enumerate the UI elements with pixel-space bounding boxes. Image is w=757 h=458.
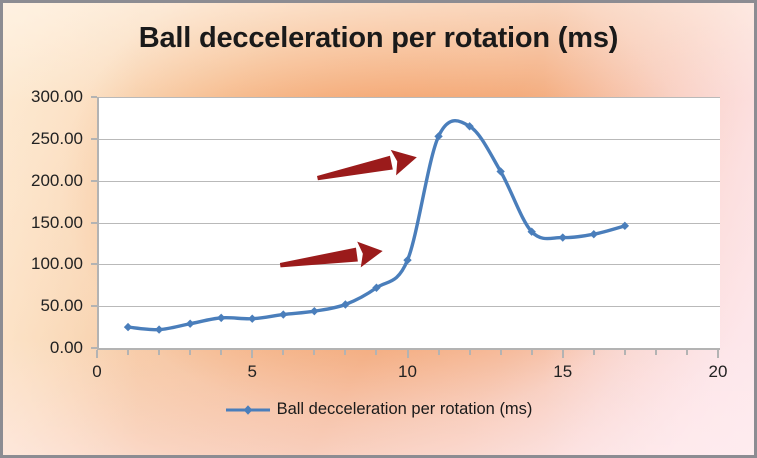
series-data-point: [155, 325, 163, 333]
y-axis-tick-label: 250.00: [5, 129, 83, 149]
series-data-point: [559, 233, 567, 241]
series-data-point: [279, 310, 287, 318]
x-axis-minor-tick-mark: [686, 350, 688, 355]
x-axis-minor-tick-mark: [655, 350, 657, 355]
x-axis-minor-tick-mark: [438, 350, 440, 355]
series-data-point: [186, 320, 194, 328]
y-axis-tick-label: 150.00: [5, 213, 83, 233]
series-data-point: [621, 222, 629, 230]
chart-title: Ball decceleration per rotation (ms): [0, 22, 757, 55]
x-axis-minor-tick-mark: [500, 350, 502, 355]
x-axis-tick-label: 5: [248, 362, 257, 382]
legend-label: Ball decceleration per rotation (ms): [277, 400, 533, 419]
x-axis-tick-label: 20: [709, 362, 728, 382]
x-axis-minor-tick-mark: [624, 350, 626, 355]
x-axis-minor-tick-mark: [375, 350, 377, 355]
x-axis-major-tick-mark: [562, 350, 564, 358]
chart-legend: Ball decceleration per rotation (ms): [0, 400, 757, 422]
series-data-point: [310, 307, 318, 315]
x-axis-minor-tick-mark: [282, 350, 284, 355]
x-axis-minor-tick-mark: [158, 350, 160, 355]
x-axis-major-tick-mark: [251, 350, 253, 358]
x-axis-minor-tick-mark: [344, 350, 346, 355]
x-axis-minor-tick-mark: [531, 350, 533, 355]
data-series-line: [97, 97, 718, 348]
x-axis-minor-tick-mark: [189, 350, 191, 355]
x-axis-minor-tick-mark: [593, 350, 595, 355]
y-axis-tick-label: 200.00: [5, 171, 83, 191]
x-axis-major-tick-mark: [407, 350, 409, 358]
chart-image: Ball decceleration per rotation (ms) 0.0…: [0, 0, 757, 458]
x-axis-minor-tick-mark: [127, 350, 129, 355]
x-axis-minor-tick-mark: [220, 350, 222, 355]
series-data-point: [217, 314, 225, 322]
x-axis-tick-label: 0: [92, 362, 101, 382]
y-axis-tick-label: 100.00: [5, 254, 83, 274]
x-axis-minor-tick-mark: [469, 350, 471, 355]
series-data-point: [124, 323, 132, 331]
x-axis-major-tick-mark: [96, 350, 98, 358]
series-data-point: [590, 230, 598, 238]
y-axis-tick-label: 50.00: [5, 296, 83, 316]
x-axis-major-tick-mark: [717, 350, 719, 358]
y-axis-tick-label: 300.00: [5, 87, 83, 107]
y-axis-tick-label: 0.00: [5, 338, 83, 358]
x-axis-tick-label: 10: [398, 362, 417, 382]
series-line: [128, 121, 625, 330]
legend-line-marker-icon: [225, 403, 271, 417]
x-axis-tick-label: 15: [553, 362, 572, 382]
series-data-point: [248, 315, 256, 323]
x-axis-minor-tick-mark: [313, 350, 315, 355]
